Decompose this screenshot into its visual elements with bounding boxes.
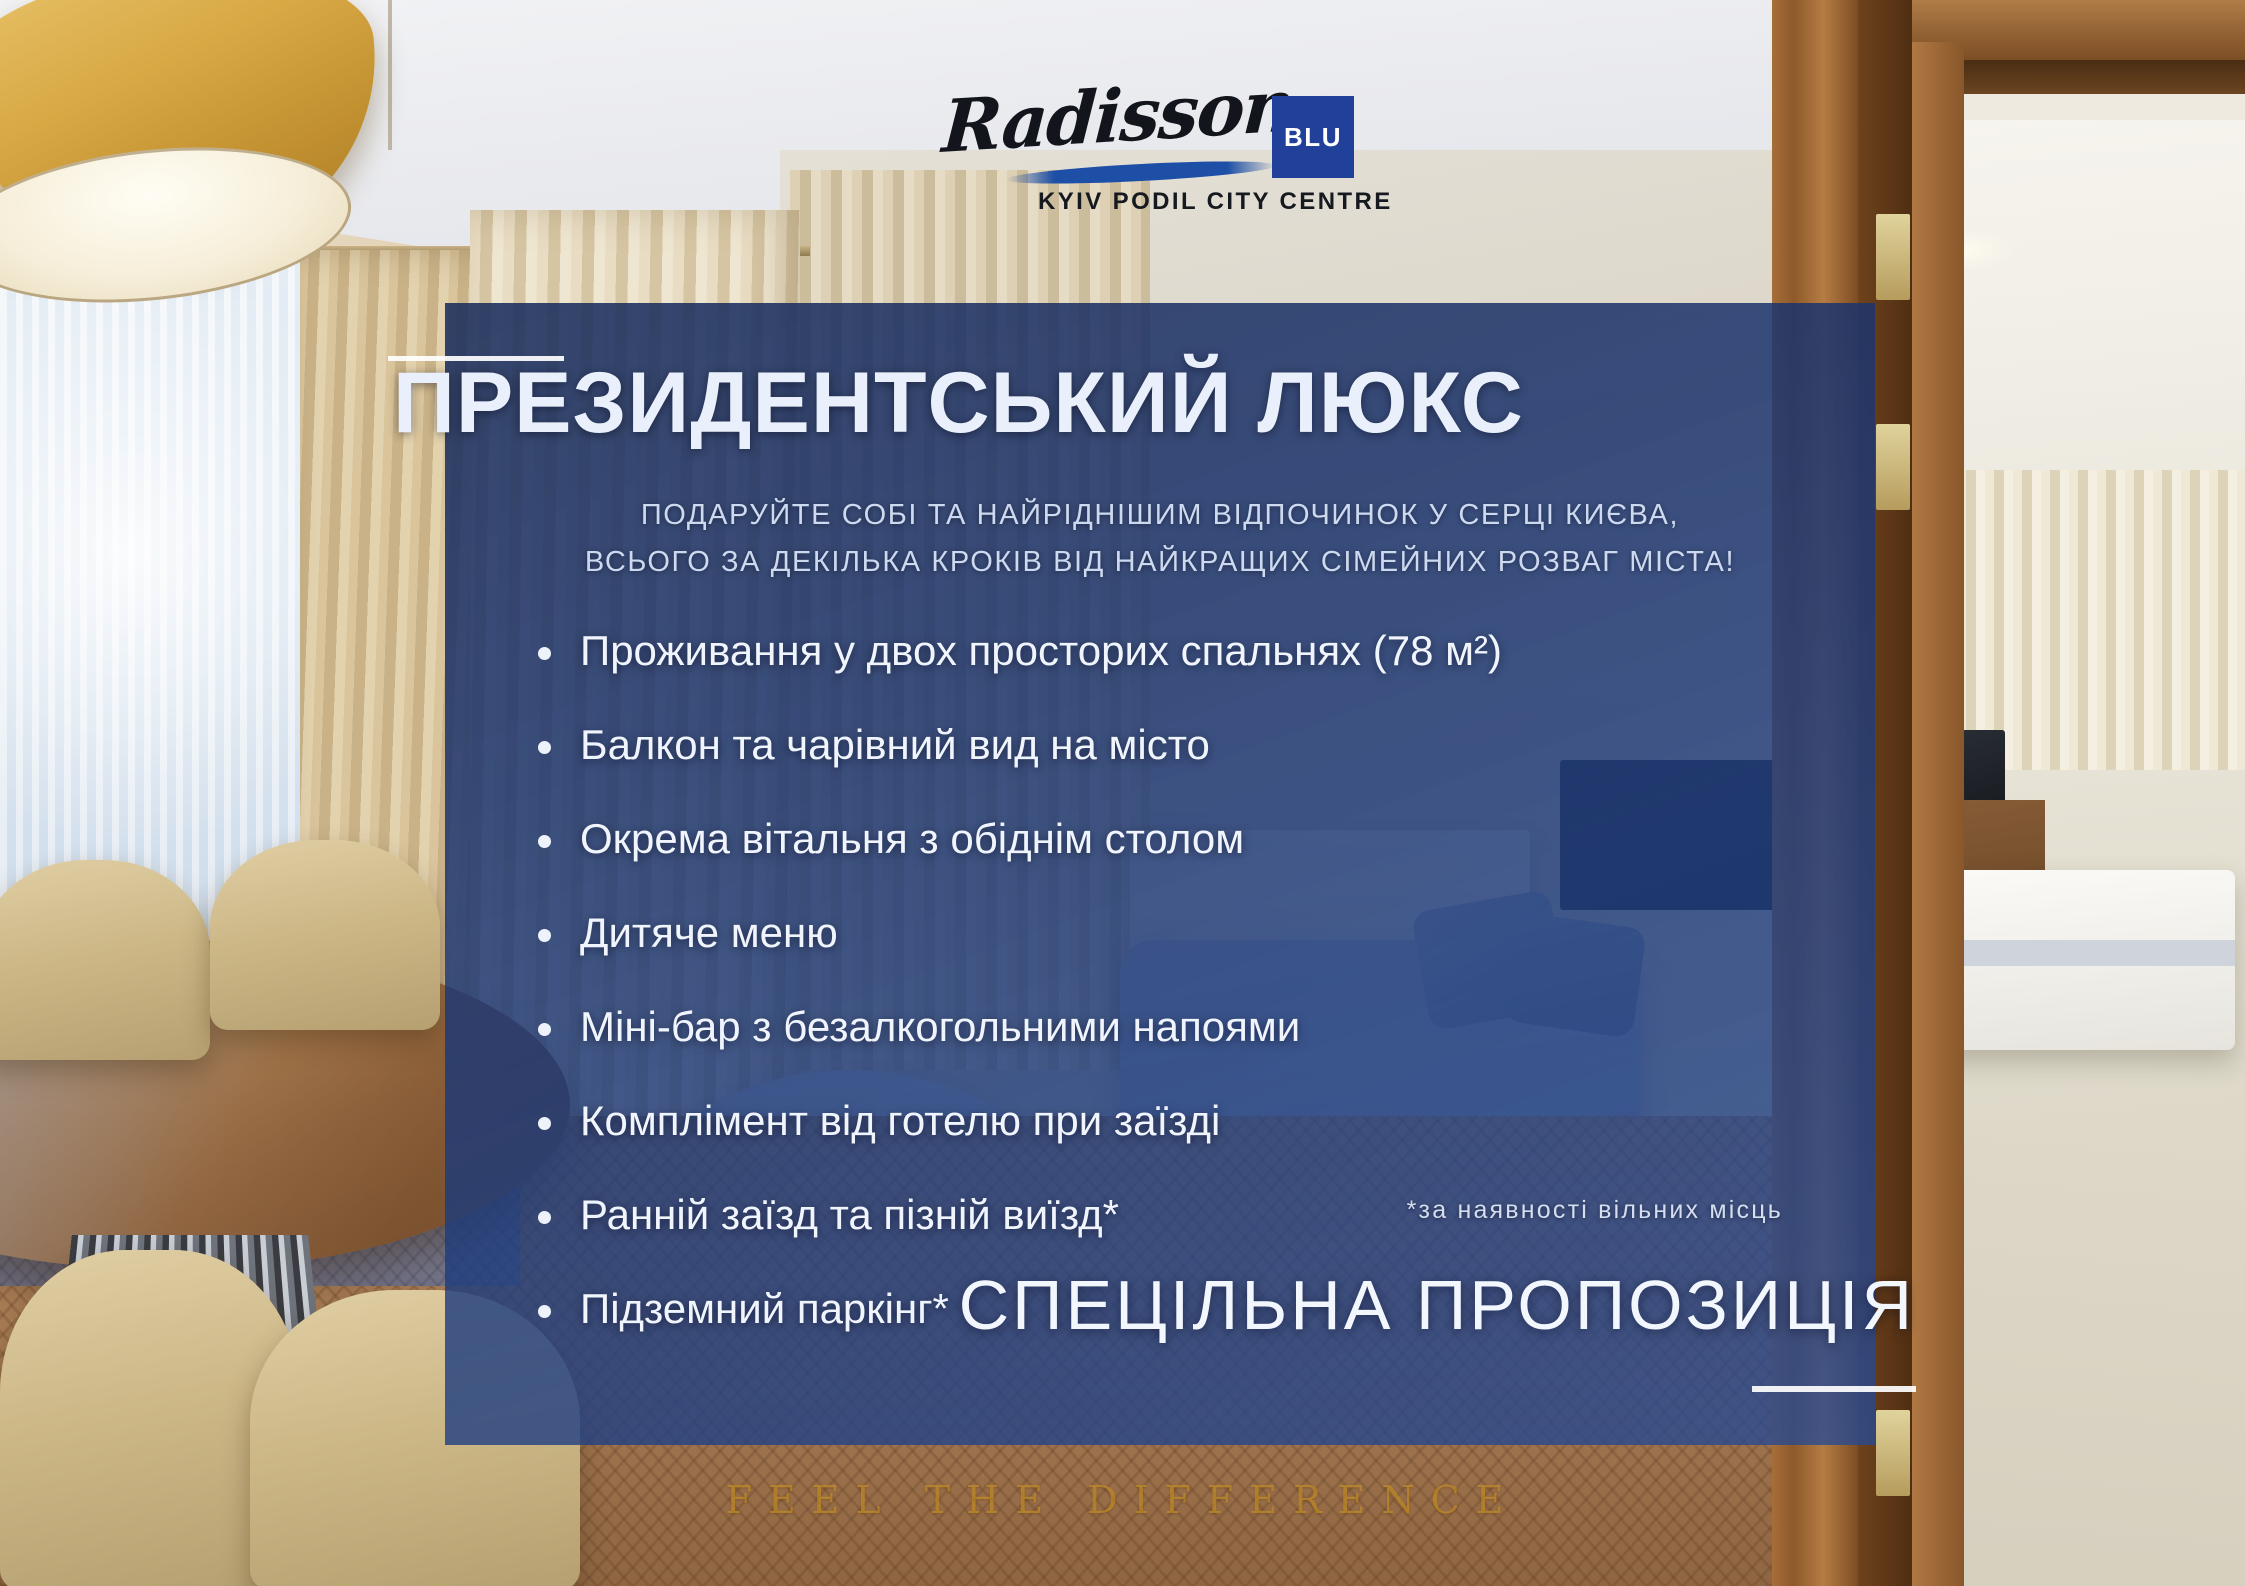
dining-chair (0, 860, 210, 1060)
list-item: Комплімент від готелю при заїзді (538, 1100, 1788, 1142)
page-title: ПРЕЗИДЕНТСЬКИЙ ЛЮКС (393, 358, 1493, 448)
door-hinge-icon (1876, 214, 1910, 300)
logo-blu-label: BLU (1284, 122, 1342, 153)
pendant-lamp-cord (388, 0, 392, 150)
offer-subtitle-line-2: ВСЬОГО ЗА ДЕКІЛЬКА КРОКІВ ВІД НАЙКРАЩИХ … (445, 539, 1875, 586)
logo-property-name: KYIV PODIL CITY CENTRE (1038, 188, 1393, 216)
special-offer-heading: СПЕЦІЛЬНА ПРОПОЗИЦІЯ (0, 1265, 1915, 1345)
list-item: Проживання у двох просторих спальнях (78… (538, 630, 1788, 672)
logo-blu-badge: BLU (1272, 96, 1354, 178)
radisson-blu-logo: Radisson BLU KYIV PODIL CITY CENTRE (940, 84, 1400, 214)
promo-poster: Radisson BLU KYIV PODIL CITY CENTRE ПРЕЗ… (0, 0, 2245, 1586)
offer-subtitle: ПОДАРУЙТЕ СОБІ ТА НАЙРІДНІШИМ ВІДПОЧИНОК… (445, 492, 1875, 586)
offer-subtitle-line-1: ПОДАРУЙТЕ СОБІ ТА НАЙРІДНІШИМ ВІДПОЧИНОК… (445, 492, 1875, 539)
list-item: Окрема вітальня з обіднім столом (538, 818, 1788, 860)
availability-footnote: *за наявності вільних місць (0, 1196, 1875, 1225)
brand-tagline: FEEL THE DIFFERENCE (0, 1478, 2245, 1522)
special-offer-rule (1752, 1386, 1916, 1392)
door-casing (1912, 42, 1964, 1586)
dining-chair (210, 840, 440, 1030)
list-item: Балкон та чарівний вид на місто (538, 724, 1788, 766)
list-item: Дитяче меню (538, 912, 1788, 954)
list-item: Міні-бар з безалкогольними напоями (538, 1006, 1788, 1048)
door-hinge-icon (1876, 424, 1910, 510)
